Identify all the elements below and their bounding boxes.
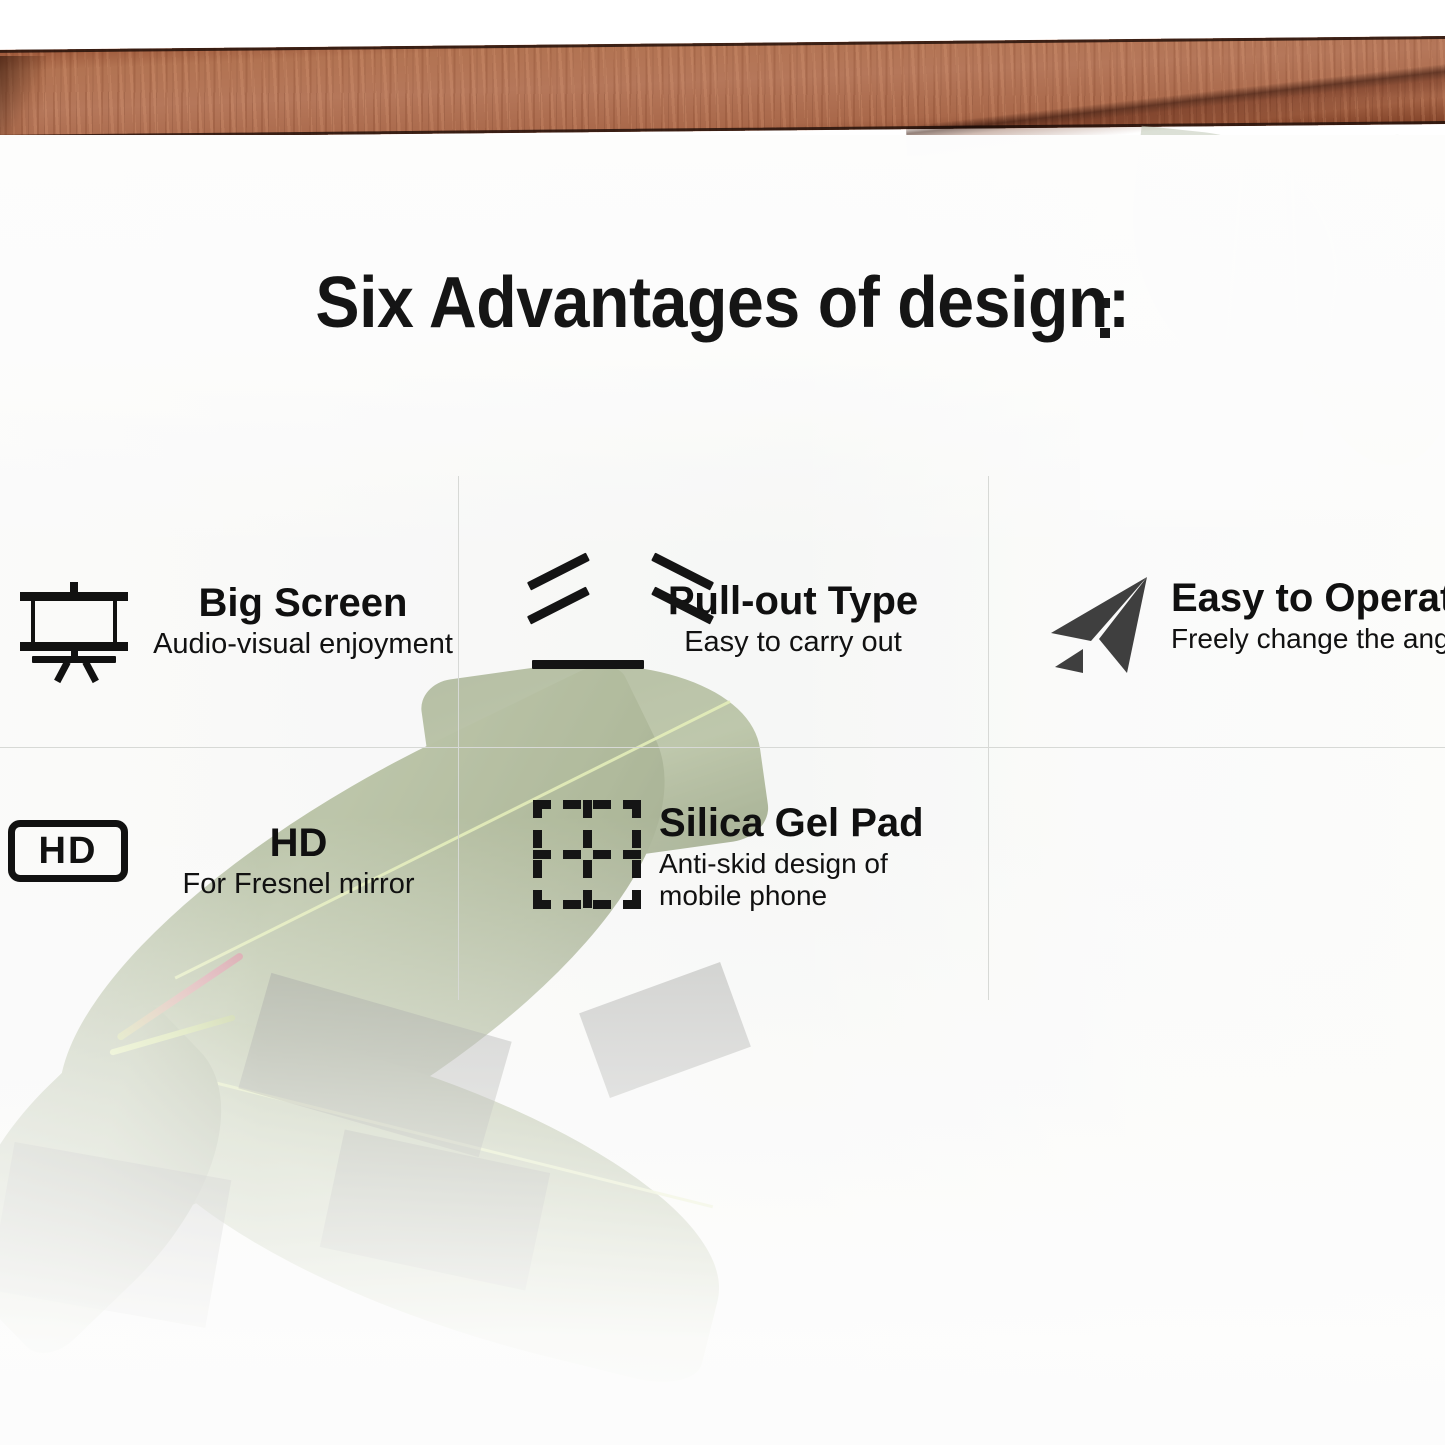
- paper-plane-icon: [1043, 575, 1153, 675]
- feature-text-block: Silica Gel Pad Anti-skid design of mobil…: [659, 800, 939, 913]
- double-chevron-up-icon: [530, 578, 645, 670]
- vertical-divider-right: [988, 476, 989, 1000]
- feature-subtitle: Audio-visual enjoyment: [148, 628, 458, 660]
- hd-badge-label: HD: [39, 832, 98, 870]
- page-title: Six Advantages of design:: [58, 262, 1387, 344]
- product-feature-infographic: Six Advantages of design: Big Screen: [0, 0, 1445, 1445]
- feature-subtitle: Anti-skid design of mobile phone: [659, 848, 939, 913]
- feature-cell-hd: HD HD For Fresnel mirror: [8, 820, 421, 900]
- feature-title: HD: [176, 822, 421, 864]
- feature-cell-easy-to-operate: Easy to Operate Freely change the angle: [1043, 575, 1445, 675]
- feature-text-block: Big Screen Audio-visual enjoyment: [148, 580, 458, 660]
- feature-icon-wrapper: [18, 580, 130, 680]
- vertical-divider-left: [458, 476, 459, 1000]
- feature-title: Silica Gel Pad: [659, 802, 939, 844]
- feature-icon-wrapper: [533, 800, 641, 908]
- feature-icon-wrapper: HD: [8, 820, 128, 882]
- feature-cell-pull-out-type: Pull-out Type Easy to carry out: [530, 578, 923, 670]
- dashed-grid-icon: [533, 800, 641, 908]
- feature-title: Easy to Operate: [1171, 577, 1445, 619]
- feature-title: Big Screen: [148, 582, 458, 624]
- content-layer: Six Advantages of design: Big Screen: [0, 0, 1445, 1445]
- feature-icon-wrapper: [1043, 575, 1153, 675]
- feature-text-block: HD For Fresnel mirror: [176, 820, 421, 900]
- feature-icon-wrapper: [530, 578, 645, 670]
- projector-screen-icon: [18, 580, 130, 680]
- feature-subtitle: For Fresnel mirror: [176, 868, 421, 900]
- feature-cell-silica-gel-pad: Silica Gel Pad Anti-skid design of mobil…: [533, 800, 939, 913]
- feature-cell-big-screen: Big Screen Audio-visual enjoyment: [18, 580, 458, 680]
- feature-text-block: Easy to Operate Freely change the angle: [1171, 575, 1445, 654]
- horizontal-divider: [0, 747, 1445, 748]
- feature-subtitle: Freely change the angle: [1171, 623, 1445, 654]
- feature-subtitle: Easy to carry out: [663, 626, 923, 658]
- hd-badge-icon: HD: [8, 820, 128, 882]
